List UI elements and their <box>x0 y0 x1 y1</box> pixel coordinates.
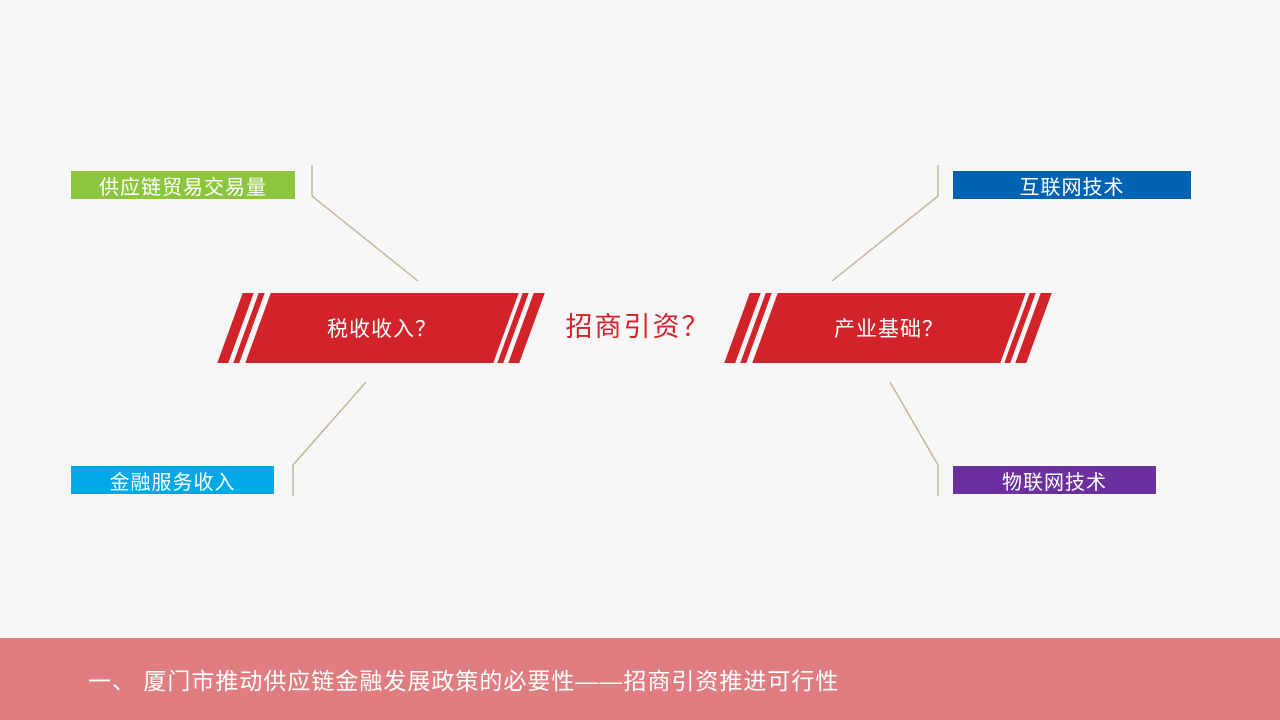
main-node-industry-base[interactable]: 产业基础？ <box>737 293 1039 363</box>
footer-bar: 一、 厦门市推动供应链金融发展政策的必要性——招商引资推进可行性 <box>0 638 1280 720</box>
connector-finance-to-tax <box>293 382 366 496</box>
leaf-node-internet-tech[interactable]: 互联网技术 <box>952 170 1192 200</box>
main-node-industry-base-body: 产业基础？ <box>752 293 1025 363</box>
leaf-node-financial-service[interactable]: 金融服务收入 <box>70 465 275 495</box>
connector-supply-to-tax <box>312 165 418 281</box>
main-node-industry-base-label: 产业基础？ <box>834 313 944 343</box>
main-node-tax-revenue-body: 税收收入？ <box>245 293 518 363</box>
leaf-node-internet-tech-label: 互联网技术 <box>1020 171 1125 200</box>
leaf-node-supply-chain-label: 供应链贸易交易量 <box>99 171 267 200</box>
leaf-node-financial-service-label: 金融服务收入 <box>110 466 236 495</box>
leaf-node-supply-chain[interactable]: 供应链贸易交易量 <box>70 170 296 200</box>
center-title: 招商引资？ <box>548 305 728 344</box>
connector-internet-to-industry <box>832 165 938 281</box>
slide-canvas: 供应链贸易交易量 金融服务收入 互联网技术 物联网技术 税收收入？ 产业基础？ … <box>0 0 1280 720</box>
main-node-tax-revenue-label: 税收收入？ <box>327 313 437 343</box>
connector-iot-to-industry <box>890 382 938 496</box>
connector-lines <box>0 0 1280 720</box>
leaf-node-iot-tech-label: 物联网技术 <box>1002 466 1107 495</box>
main-node-tax-revenue[interactable]: 税收收入？ <box>230 293 532 363</box>
footer-title-text: 一、 厦门市推动供应链金融发展政策的必要性——招商引资推进可行性 <box>0 662 839 696</box>
leaf-node-iot-tech[interactable]: 物联网技术 <box>952 465 1157 495</box>
